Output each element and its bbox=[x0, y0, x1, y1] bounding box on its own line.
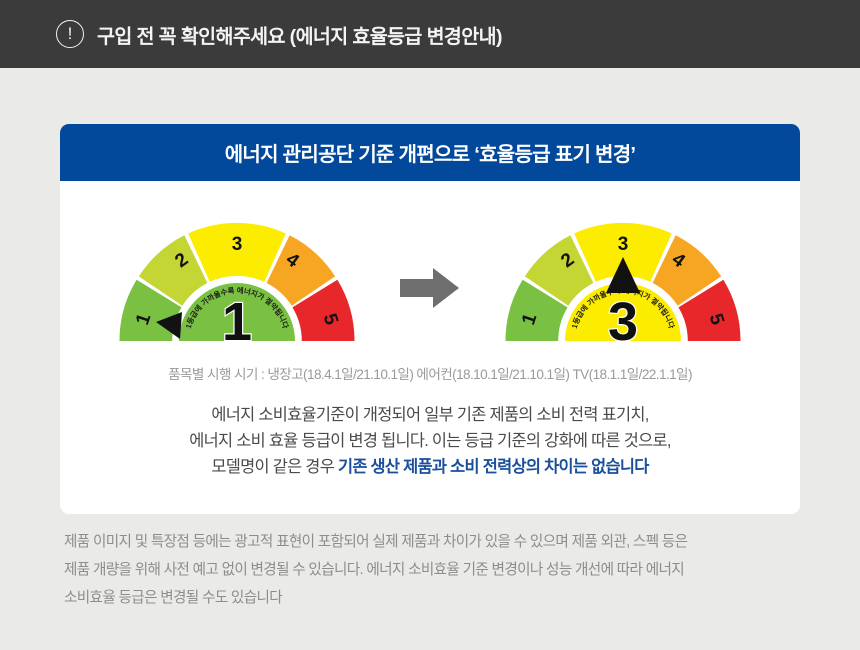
gauge-comparison: 1 2 3 4 5 1등급에 가까울수록 에너지가 절약됩니다 bbox=[60, 181, 800, 349]
notice-card: 에너지 관리공단 기준 개편으로 ‘효율등급 표기 변경’ 1 bbox=[60, 124, 800, 514]
gauge-after-grade-value: 3 bbox=[608, 292, 638, 349]
disclaimer-line-3: 소비효율 등급은 변경될 수도 있습니다 bbox=[64, 584, 796, 612]
transition-arrow bbox=[395, 248, 465, 310]
exclamation-circle-icon: ! bbox=[56, 20, 84, 48]
body-line-2: 에너지 소비 효율 등급이 변경 됩니다. 이는 등급 기준의 강화에 따른 것… bbox=[60, 428, 800, 454]
energy-grade-gauge-after: 1 2 3 4 5 1등급에 가까울수록 에너지가 절약됩니다 3 bbox=[493, 209, 753, 349]
gauge-after-svg: 1 2 3 4 5 1등급에 가까울수록 에너지가 절약됩니다 3 bbox=[498, 209, 748, 349]
notice-card-header-title: 에너지 관리공단 기준 개편으로 ‘효율등급 표기 변경’ bbox=[225, 138, 636, 167]
energy-grade-gauge-before: 1 2 3 4 5 1등급에 가까울수록 에너지가 절약됩니다 bbox=[107, 209, 367, 349]
body-line-3: 모델명이 같은 경우 기존 생산 제품과 소비 전력상의 차이는 없습니다 bbox=[60, 454, 800, 480]
notice-card-body: 1 2 3 4 5 1등급에 가까울수록 에너지가 절약됩니다 bbox=[60, 181, 800, 514]
gauge-before-grade-value: 1 bbox=[222, 292, 252, 349]
gauge-before-svg: 1 2 3 4 5 1등급에 가까울수록 에너지가 절약됩니다 bbox=[112, 209, 362, 349]
exclamation-mark: ! bbox=[68, 25, 73, 42]
gauge-number-3: 3 bbox=[618, 234, 629, 255]
disclaimer-line-1: 제품 이미지 및 특장점 등에는 광고적 표현이 포함되어 실제 제품과 차이가… bbox=[64, 528, 796, 556]
page-header-bar: ! 구입 전 꼭 확인해주세요 (에너지 효율등급 변경안내) bbox=[0, 0, 860, 68]
notice-card-header: 에너지 관리공단 기준 개편으로 ‘효율등급 표기 변경’ bbox=[60, 124, 800, 181]
body-line-3-prefix: 모델명이 같은 경우 bbox=[211, 458, 338, 476]
notice-body-copy: 에너지 소비효율기준이 개정되어 일부 기존 제품의 소비 전력 표기치, 에너… bbox=[60, 402, 800, 480]
right-arrow-icon bbox=[400, 266, 460, 310]
disclaimer-text: 제품 이미지 및 특장점 등에는 광고적 표현이 포함되어 실제 제품과 차이가… bbox=[64, 528, 796, 612]
page-title: 구입 전 꼭 확인해주세요 (에너지 효율등급 변경안내) bbox=[97, 20, 502, 49]
disclaimer-line-2: 제품 개량을 위해 사전 예고 없이 변경될 수 있습니다. 에너지 소비효율 … bbox=[64, 556, 796, 584]
gauge-number-3: 3 bbox=[232, 234, 243, 255]
schedule-note: 품목별 시행 시기 : 냉장고(18.4.1일/21.10.1일) 에어컨(18… bbox=[60, 363, 800, 383]
body-line-3-highlight: 기존 생산 제품과 소비 전력상의 차이는 없습니다 bbox=[338, 458, 649, 476]
body-line-1: 에너지 소비효율기준이 개정되어 일부 기존 제품의 소비 전력 표기치, bbox=[60, 402, 800, 428]
